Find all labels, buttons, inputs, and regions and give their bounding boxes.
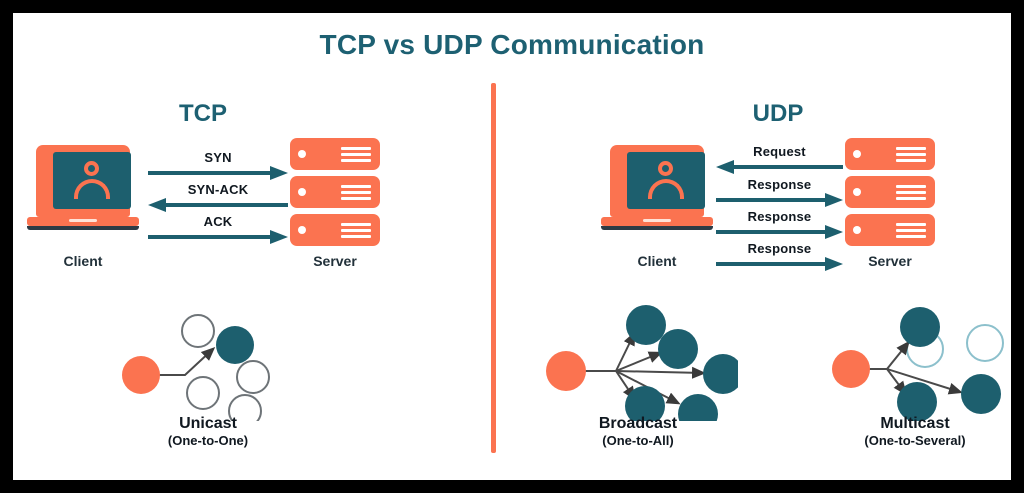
server-vents-icon bbox=[896, 147, 926, 162]
image-border: TCP vs UDP Communication TCP Client bbox=[0, 0, 1024, 493]
server-vents-icon bbox=[341, 223, 371, 238]
broadcast-diagram: Broadcast (One-to-All) bbox=[538, 301, 738, 421]
tcp-client-laptop bbox=[27, 145, 139, 237]
tcp-client-label: Client bbox=[27, 253, 139, 269]
multicast-title: Multicast bbox=[825, 414, 1005, 433]
unicast-diagram: Unicast (One-to-One) bbox=[113, 301, 303, 421]
source-node bbox=[832, 350, 870, 388]
unicast-title: Unicast bbox=[113, 414, 303, 433]
tcp-message-syn: SYN bbox=[148, 153, 288, 179]
broadcast-title: Broadcast bbox=[538, 414, 738, 433]
server-indicator-icon bbox=[853, 150, 861, 158]
broadcast-subtitle: (One-to-All) bbox=[538, 433, 738, 449]
multicast-graph bbox=[825, 301, 1005, 421]
diagram-canvas: TCP vs UDP Communication TCP Client bbox=[13, 13, 1011, 480]
inactive-node bbox=[187, 377, 219, 409]
inactive-node bbox=[182, 315, 214, 347]
server-unit bbox=[290, 176, 380, 208]
multicast-subtitle: (One-to-Several) bbox=[825, 433, 1005, 449]
inactive-node bbox=[237, 361, 269, 393]
tcp-message-ack: ACK bbox=[148, 217, 288, 243]
arrow-left-icon bbox=[148, 198, 288, 212]
server-indicator-icon bbox=[298, 226, 306, 234]
broadcast-arrow bbox=[616, 371, 703, 373]
server-unit bbox=[845, 176, 935, 208]
server-indicator-icon bbox=[298, 188, 306, 196]
user-icon bbox=[647, 161, 685, 201]
tcp-message-label: SYN bbox=[148, 150, 288, 165]
udp-server-stack bbox=[845, 138, 935, 248]
user-body bbox=[648, 179, 684, 199]
multicast-arrow bbox=[887, 343, 908, 369]
laptop-shadow bbox=[601, 226, 713, 230]
tcp-message-label: ACK bbox=[148, 214, 288, 229]
server-vents-icon bbox=[896, 185, 926, 200]
arrow-right-icon bbox=[148, 230, 288, 244]
laptop-trackpad bbox=[69, 219, 97, 222]
multicast-diagram: Multicast (One-to-Several) bbox=[825, 301, 1005, 421]
broadcast-graph bbox=[538, 301, 738, 421]
udp-server-label: Server bbox=[845, 253, 935, 269]
user-head bbox=[84, 161, 99, 176]
server-unit bbox=[290, 138, 380, 170]
udp-message-label: Response bbox=[716, 177, 843, 192]
server-unit bbox=[290, 214, 380, 246]
udp-message-response-2: Response bbox=[716, 212, 843, 238]
server-indicator-icon bbox=[298, 150, 306, 158]
source-node bbox=[546, 351, 586, 391]
arrow-left-icon bbox=[716, 160, 843, 174]
unicast-graph bbox=[113, 301, 303, 421]
laptop-shadow bbox=[27, 226, 139, 230]
udp-message-label: Request bbox=[716, 144, 843, 159]
unicast-caption: Unicast (One-to-One) bbox=[113, 414, 303, 449]
laptop-lid bbox=[36, 145, 130, 217]
broadcast-caption: Broadcast (One-to-All) bbox=[538, 414, 738, 449]
tcp-heading: TCP bbox=[128, 100, 278, 128]
udp-message-response-3: Response bbox=[716, 244, 843, 270]
udp-heading: UDP bbox=[703, 100, 853, 128]
arrow-right-icon bbox=[716, 193, 843, 207]
target-node bbox=[658, 329, 698, 369]
udp-client-laptop bbox=[601, 145, 713, 237]
target-node bbox=[900, 307, 940, 347]
udp-message-response-1: Response bbox=[716, 180, 843, 206]
server-unit bbox=[845, 214, 935, 246]
arrow-right-icon bbox=[716, 225, 843, 239]
server-indicator-icon bbox=[853, 226, 861, 234]
unicast-arrow bbox=[157, 349, 213, 375]
tcp-server-stack bbox=[290, 138, 380, 248]
server-vents-icon bbox=[341, 185, 371, 200]
panel-divider bbox=[491, 83, 496, 453]
laptop-lid bbox=[610, 145, 704, 217]
server-indicator-icon bbox=[853, 188, 861, 196]
target-node bbox=[626, 305, 666, 345]
tcp-server-label: Server bbox=[290, 253, 380, 269]
arrow-right-icon bbox=[148, 166, 288, 180]
server-unit bbox=[845, 138, 935, 170]
multicast-caption: Multicast (One-to-Several) bbox=[825, 414, 1005, 449]
tcp-message-label: SYN-ACK bbox=[148, 182, 288, 197]
server-vents-icon bbox=[341, 147, 371, 162]
server-vents-icon bbox=[896, 223, 926, 238]
user-head bbox=[658, 161, 673, 176]
udp-message-label: Response bbox=[716, 241, 843, 256]
inactive-node bbox=[967, 325, 1003, 361]
user-icon bbox=[73, 161, 111, 201]
target-node bbox=[216, 326, 254, 364]
udp-message-request: Request bbox=[716, 147, 843, 173]
target-node bbox=[961, 374, 1001, 414]
page-title: TCP vs UDP Communication bbox=[13, 29, 1011, 61]
target-node bbox=[703, 354, 738, 394]
udp-client-label: Client bbox=[601, 253, 713, 269]
unicast-subtitle: (One-to-One) bbox=[113, 433, 303, 449]
tcp-message-syn-ack: SYN-ACK bbox=[148, 185, 288, 211]
source-node bbox=[122, 356, 160, 394]
laptop-trackpad bbox=[643, 219, 671, 222]
user-body bbox=[74, 179, 110, 199]
arrow-right-icon bbox=[716, 257, 843, 271]
udp-message-label: Response bbox=[716, 209, 843, 224]
